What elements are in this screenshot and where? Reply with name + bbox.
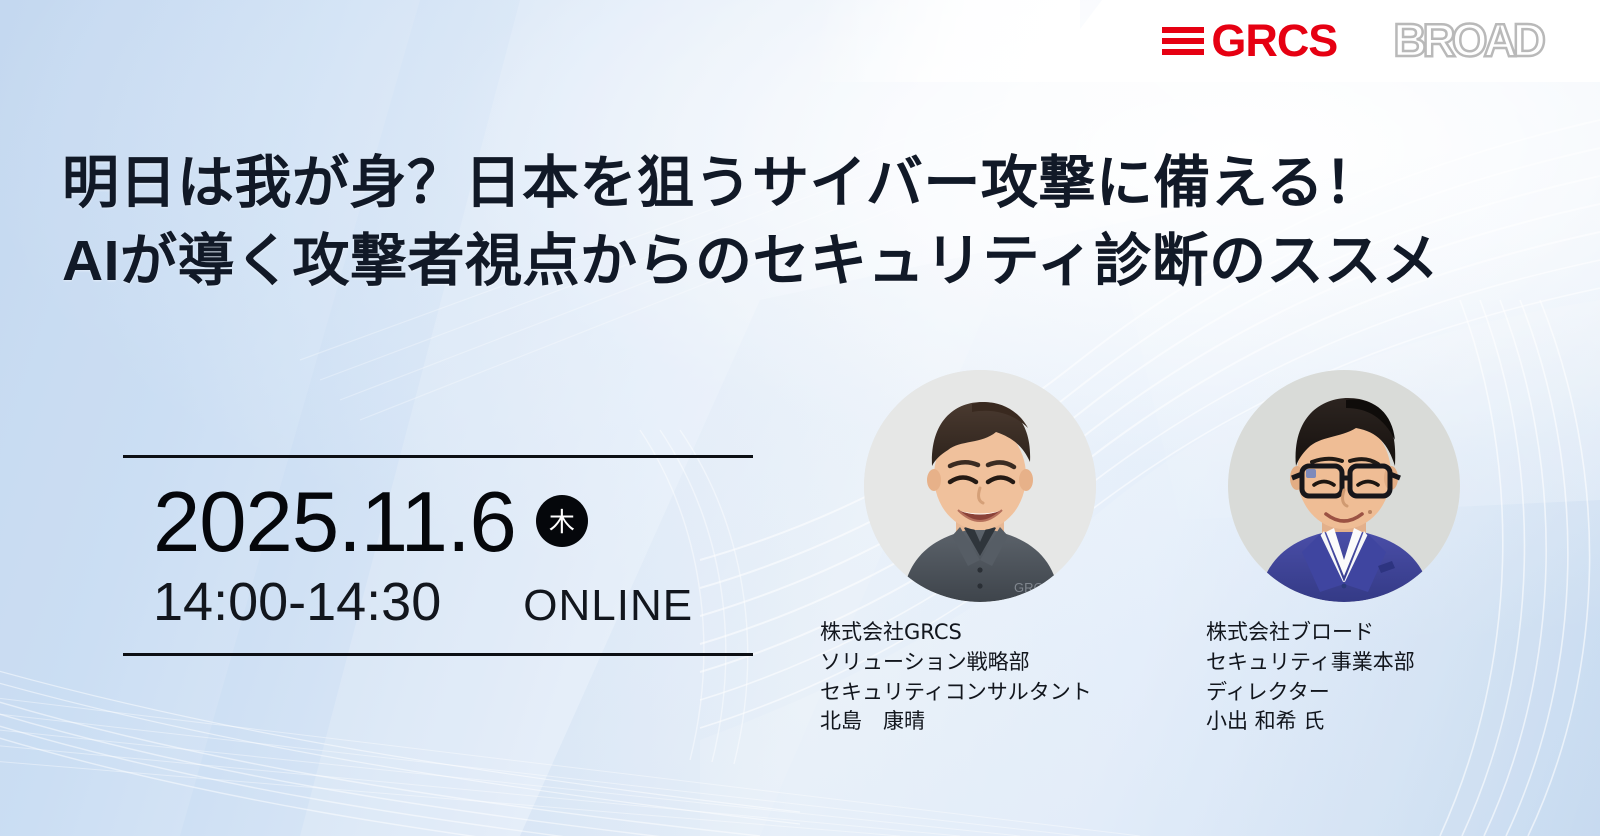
speaker-1-avatar: GRCS: [864, 370, 1096, 602]
speaker-2-portrait-icon: [1228, 370, 1460, 602]
speaker-card-2: 株式会社ブロード セキュリティ事業本部 ディレクター 小出 和希 氏: [1190, 370, 1530, 737]
speaker-1-caption: 株式会社GRCS ソリューション戦略部 セキュリティコンサルタント 北島 康晴: [820, 618, 1150, 737]
logo-band-fade: [820, 0, 1080, 82]
day-of-week-badge: 木: [536, 495, 588, 547]
speaker-2-caption: 株式会社ブロード セキュリティ事業本部 ディレクター 小出 和希 氏: [1206, 618, 1530, 737]
event-time-row: 14:00-14:30 ONLINE: [123, 571, 753, 653]
speaker-2-company: 株式会社ブロード: [1206, 618, 1530, 648]
speaker-1-portrait-icon: GRCS: [864, 370, 1096, 602]
event-time: 14:00-14:30: [153, 575, 441, 629]
event-date-row: 2025.11.6 木: [123, 458, 753, 571]
grcs-bars-icon: [1162, 25, 1204, 55]
grcs-logo: GRCS: [1162, 18, 1337, 63]
event-date: 2025.11.6: [153, 480, 516, 565]
page-title: 明日は我が身？日本を狙うサイバー攻撃に備える！ AIが導く攻撃者視点からのセキュ…: [62, 146, 1542, 298]
speaker-1-role: セキュリティコンサルタント: [820, 678, 1150, 708]
speaker-2-department: セキュリティ事業本部: [1206, 648, 1530, 678]
event-schedule: 2025.11.6 木 14:00-14:30 ONLINE: [123, 455, 753, 656]
speaker-2-name: 小出 和希 氏: [1206, 707, 1530, 737]
speaker-1-company: 株式会社GRCS: [820, 618, 1150, 648]
logo-group: GRCS BROAD: [1162, 17, 1542, 63]
speaker-card-1: GRCS: [820, 370, 1150, 737]
event-venue: ONLINE: [523, 584, 693, 628]
schedule-divider-bottom: [123, 653, 753, 656]
speaker-1-name: 北島 康晴: [820, 707, 1150, 737]
speaker-1-photo-wrap: GRCS: [864, 370, 1096, 602]
speaker-2-role: ディレクター: [1206, 678, 1530, 708]
title-line-2: AIが導く攻撃者視点からのセキュリティ診断のススメ: [62, 224, 1542, 298]
svg-text:GRCS: GRCS: [1014, 580, 1052, 595]
broad-logo: BROAD: [1393, 17, 1542, 63]
webinar-banner: GRCS BROAD 明日は我が身？日本を狙うサイバー攻撃に備える！ AIが導く…: [0, 0, 1600, 836]
speaker-2-photo-wrap: [1228, 370, 1460, 602]
speaker-1-department: ソリューション戦略部: [820, 648, 1150, 678]
speaker-2-avatar: [1228, 370, 1460, 602]
title-line-1: 明日は我が身？日本を狙うサイバー攻撃に備える！: [62, 146, 1542, 220]
grcs-wordmark: GRCS: [1211, 18, 1337, 63]
